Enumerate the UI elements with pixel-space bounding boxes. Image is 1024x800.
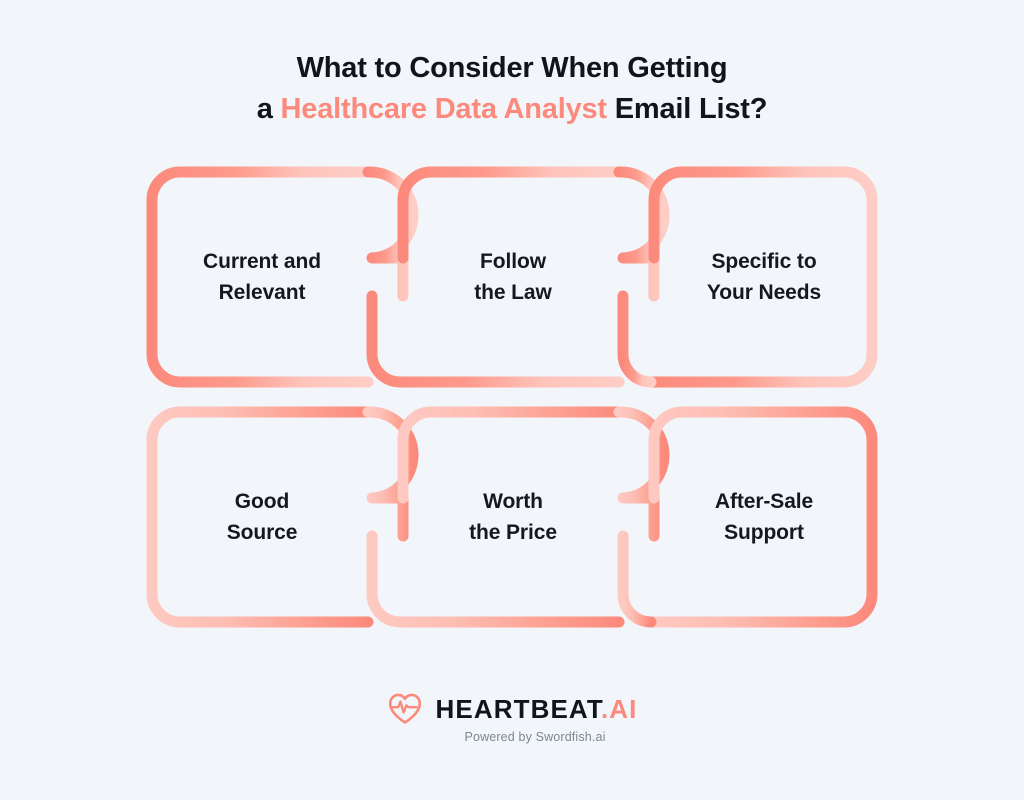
- logo-wordmark: HEARTBEAT.AI: [436, 696, 638, 722]
- logo-name-accent: .AI: [601, 694, 638, 724]
- title-prefix: a: [257, 93, 281, 125]
- card-label-specific-to-your-needs[interactable]: Specific to Your Needs: [654, 172, 874, 382]
- card-label-good-source[interactable]: Good Source: [152, 412, 372, 622]
- heart-pulse-icon: [387, 692, 423, 725]
- logo-name-black: HEARTBEAT: [436, 694, 601, 724]
- card-border-3b: [623, 296, 651, 382]
- title-accent-text: Healthcare Data Analyst: [281, 93, 607, 125]
- card-label-current-and-relevant[interactable]: Current and Relevant: [152, 172, 372, 382]
- title-line-2: a Healthcare Data Analyst Email List?: [0, 89, 1024, 130]
- card-label-follow-the-law[interactable]: Follow the Law: [403, 172, 623, 382]
- title-line-1: What to Consider When Getting: [0, 48, 1024, 89]
- brand-logo: HEARTBEAT.AI Powered by Swordfish.ai: [0, 692, 1024, 744]
- logo-row: HEARTBEAT.AI: [387, 692, 638, 725]
- page-title: What to Consider When Getting a Healthca…: [0, 48, 1024, 130]
- card-label-after-sale-support[interactable]: After-Sale Support: [654, 412, 874, 622]
- card-label-worth-the-price[interactable]: Worth the Price: [403, 412, 623, 622]
- title-suffix: Email List?: [607, 93, 767, 125]
- infographic-root: What to Consider When Getting a Healthca…: [0, 0, 1024, 800]
- card-border-6b: [623, 536, 651, 622]
- logo-tagline: Powered by Swordfish.ai: [464, 730, 605, 744]
